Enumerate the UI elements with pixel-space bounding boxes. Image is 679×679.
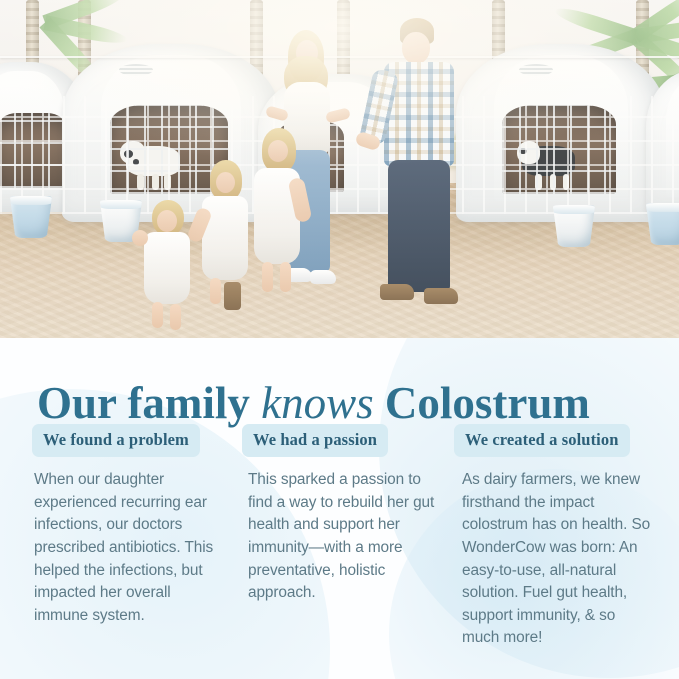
story-panel: Our family knows Colostrum We found a pr… [0, 338, 679, 679]
headline-part-2: knows [261, 378, 374, 428]
story-badge-solution: We created a solution [454, 424, 630, 457]
person-daughter-middle [200, 160, 254, 310]
story-text-problem: When our daughter experienced recurring … [26, 469, 223, 627]
story-columns: We found a problem When our daughter exp… [26, 424, 653, 666]
story-text-passion: This sparked a passion to find a way to … [240, 469, 437, 605]
person-daughter-youngest [142, 200, 198, 332]
hero-photo [0, 0, 679, 338]
feed-bucket [8, 196, 54, 238]
marketing-page: Our family knows Colostrum We found a pr… [0, 0, 679, 679]
person-daughter-older [250, 128, 306, 298]
headline-part-3: Colostrum [374, 378, 590, 428]
story-badge-passion: We had a passion [242, 424, 388, 457]
person-father [378, 18, 464, 308]
headline-part-1: Our family [37, 378, 261, 428]
hutch-vent [519, 64, 553, 76]
story-column-problem: We found a problem When our daughter exp… [26, 424, 223, 666]
hutch-vent [119, 64, 153, 76]
feed-bucket [551, 205, 597, 247]
story-text-solution: As dairy farmers, we knew firsthand the … [454, 469, 651, 650]
page-title: Our family knows Colostrum [37, 380, 647, 427]
story-column-solution: We created a solution As dairy farmers, … [454, 424, 651, 666]
story-column-passion: We had a passion This sparked a passion … [240, 424, 437, 666]
story-badge-problem: We found a problem [32, 424, 200, 457]
